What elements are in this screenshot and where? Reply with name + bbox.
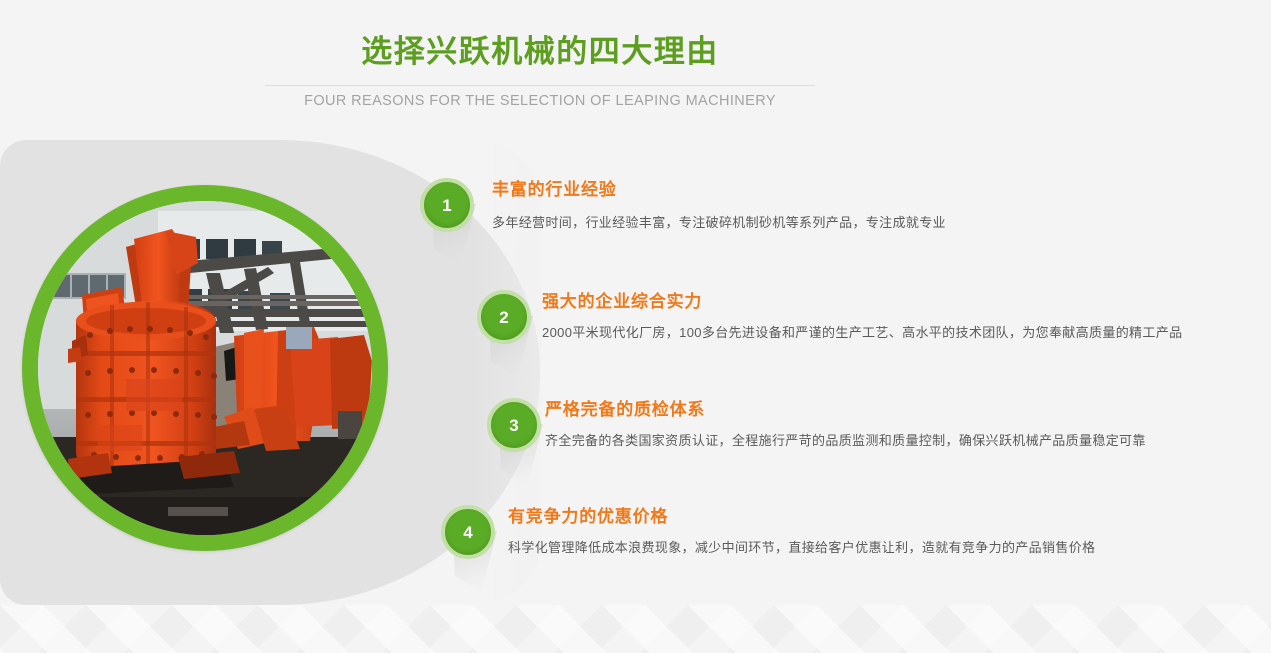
promo-page: 选择兴跃机械的四大理由 FOUR REASONS FOR THE SELECTI…	[0, 0, 1271, 653]
reason-number-badge-3: 3	[487, 398, 541, 452]
reason-badge-wrapper-3: 3	[487, 398, 543, 454]
title-divider	[265, 85, 815, 86]
reason-description-4: 科学化管理降低成本浪费现象，减少中间环节，直接给客户优惠让利，造就有竞争力的产品…	[508, 536, 1198, 560]
reason-text-block-3: 严格完备的质检体系 齐全完备的各类国家资质认证，全程施行严苛的品质监测和质量控制…	[545, 398, 1205, 453]
reason-number-badge-2: 2	[477, 290, 531, 344]
reason-title-4: 有竞争力的优惠价格	[508, 505, 1198, 529]
reason-badge-wrapper-1: 1	[420, 178, 476, 234]
footer-pattern	[0, 605, 1271, 653]
reason-number-badge-4: 4	[441, 505, 495, 559]
reason-number-badge-1: 1	[420, 178, 474, 232]
reason-text-block-1: 丰富的行业经验 多年经营时间，行业经验丰富，专注破碎机制砂机等系列产品，专注成就…	[492, 178, 1192, 235]
reasons-list: 1 丰富的行业经验 多年经营时间，行业经验丰富，专注破碎机制砂机等系列产品，专注…	[0, 140, 1271, 610]
reason-description-2: 2000平米现代化厂房，100多台先进设备和严谨的生产工艺、高水平的技术团队，为…	[542, 321, 1202, 345]
reason-description-1: 多年经营时间，行业经验丰富，专注破碎机制砂机等系列产品，专注成就专业	[492, 211, 1192, 235]
reason-title-1: 丰富的行业经验	[492, 178, 1192, 202]
reason-text-block-4: 有竞争力的优惠价格 科学化管理降低成本浪费现象，减少中间环节，直接给客户优惠让利…	[508, 505, 1198, 560]
reason-badge-wrapper-4: 4	[441, 505, 497, 561]
page-header: 选择兴跃机械的四大理由 FOUR REASONS FOR THE SELECTI…	[0, 0, 1271, 140]
reason-title-2: 强大的企业综合实力	[542, 290, 1202, 314]
reason-text-block-2: 强大的企业综合实力 2000平米现代化厂房，100多台先进设备和严谨的生产工艺、…	[542, 290, 1202, 345]
page-title: 选择兴跃机械的四大理由	[0, 32, 1080, 72]
reason-badge-wrapper-2: 2	[477, 290, 533, 346]
reason-description-3: 齐全完备的各类国家资质认证，全程施行严苛的品质监测和质量控制，确保兴跃机械产品质…	[545, 429, 1205, 453]
page-subtitle: FOUR REASONS FOR THE SELECTION OF LEAPIN…	[0, 90, 1080, 112]
footer-pattern-overlay	[0, 605, 1271, 653]
reason-title-3: 严格完备的质检体系	[545, 398, 1205, 422]
